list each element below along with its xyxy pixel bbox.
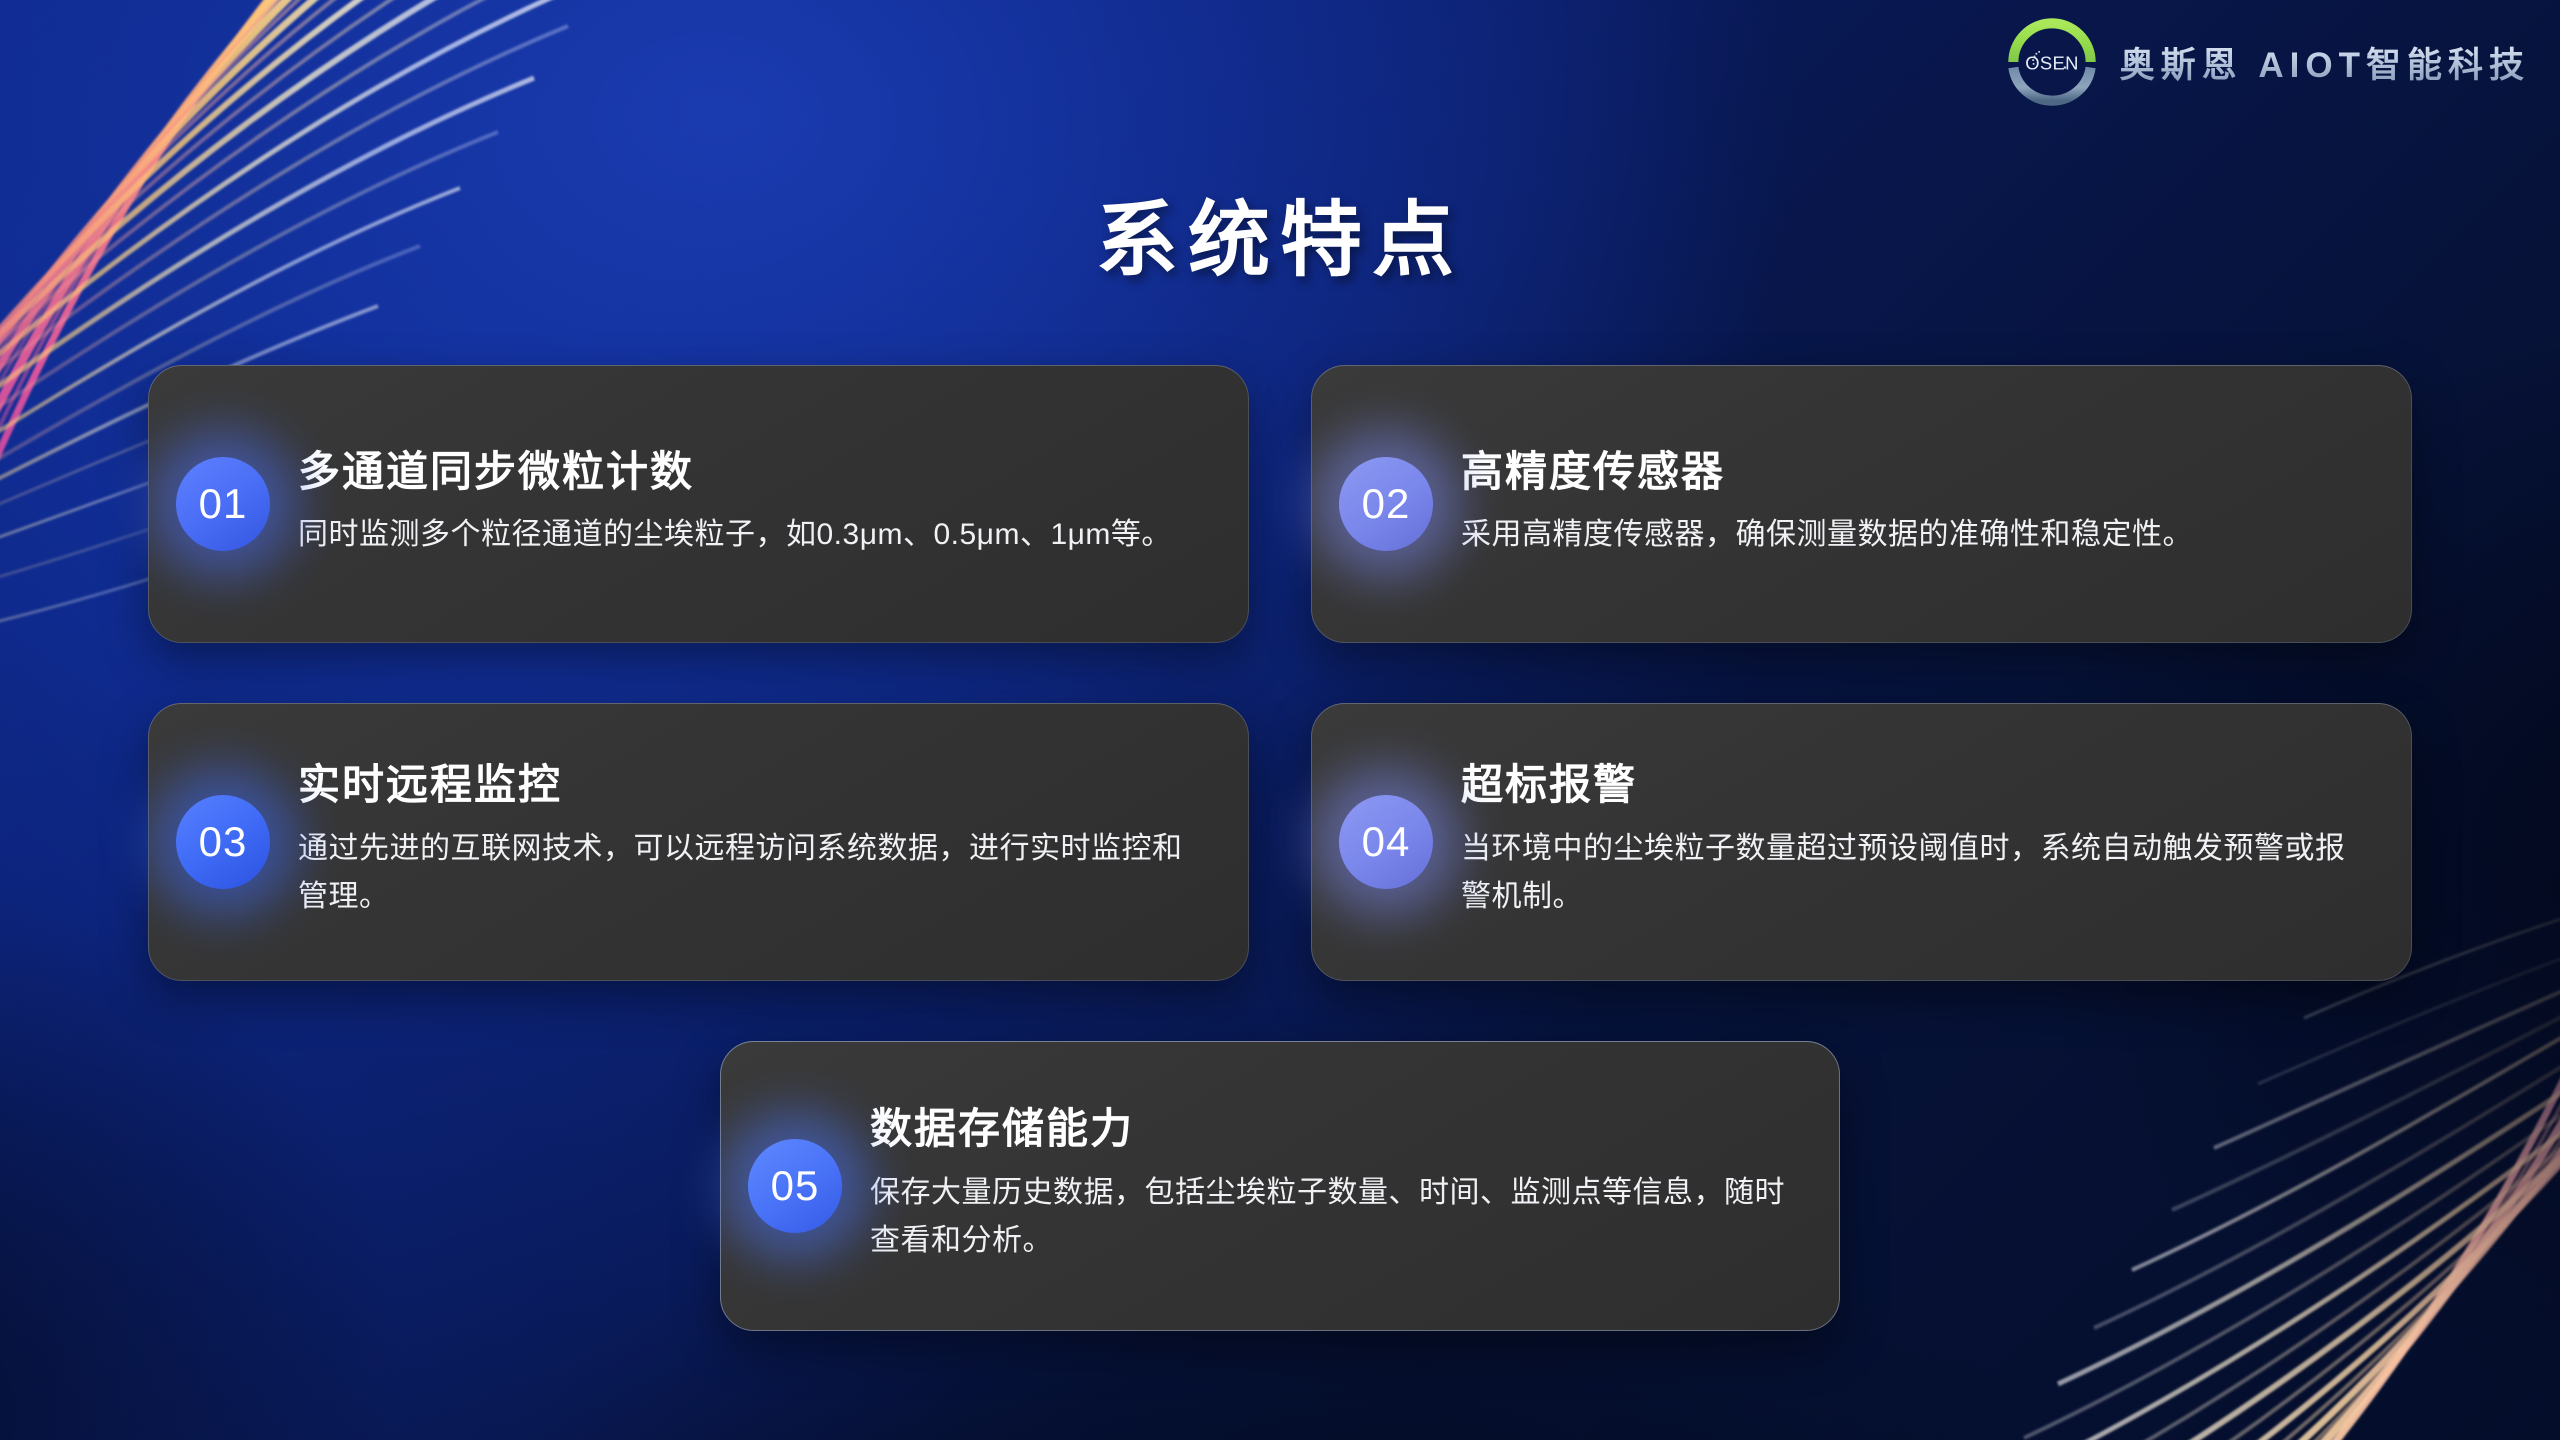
brand-header: OSEN 奥斯恩 AIOT智能科技 (2006, 16, 2530, 108)
badge-number-05: 05 (748, 1139, 842, 1233)
slide-root: OSEN 奥斯恩 AIOT智能科技 系统特点 01 多通道同步微粒计数 同时监测… (0, 0, 2560, 1440)
card-body-01: 多通道同步微粒计数 同时监测多个粒径通道的尘埃粒子，如0.3μm、0.5μm、1… (298, 449, 1205, 560)
osen-logo-icon: OSEN (2006, 16, 2098, 108)
card-desc-01: 同时监测多个粒径通道的尘埃粒子，如0.3μm、0.5μm、1μm等。 (298, 511, 1195, 560)
card-body-02: 高精度传感器 采用高精度传感器，确保测量数据的准确性和稳定性。 (1461, 449, 2368, 560)
feature-card-grid: 01 多通道同步微粒计数 同时监测多个粒径通道的尘埃粒子，如0.3μm、0.5μ… (148, 365, 2412, 1331)
badge-wrap-03: 03 (148, 795, 298, 889)
card-body-04: 超标报警 当环境中的尘埃粒子数量超过预设阈值时，系统自动触发预警或报警机制。 (1461, 762, 2368, 921)
card-row-2: 03 实时远程监控 通过先进的互联网技术，可以远程访问系统数据，进行实时监控和管… (148, 703, 2412, 981)
page-title: 系统特点 (0, 173, 2560, 292)
card-row-1: 01 多通道同步微粒计数 同时监测多个粒径通道的尘埃粒子，如0.3μm、0.5μ… (148, 365, 2412, 643)
badge-wrap-02: 02 (1311, 457, 1461, 551)
badge-number-03: 03 (176, 795, 270, 889)
card-body-05: 数据存储能力 保存大量历史数据，包括尘埃粒子数量、时间、监测点等信息，随时查看和… (870, 1106, 1796, 1265)
card-desc-04: 当环境中的尘埃粒子数量超过预设阈值时，系统自动触发预警或报警机制。 (1461, 825, 2358, 922)
osen-logo-text: OSEN (2025, 52, 2079, 73)
card-title-04: 超标报警 (1461, 762, 2358, 808)
feature-card-01[interactable]: 01 多通道同步微粒计数 同时监测多个粒径通道的尘埃粒子，如0.3μm、0.5μ… (148, 365, 1249, 643)
card-title-05: 数据存储能力 (870, 1106, 1786, 1152)
card-row-3: 05 数据存储能力 保存大量历史数据，包括尘埃粒子数量、时间、监测点等信息，随时… (148, 1041, 2412, 1331)
card-title-01: 多通道同步微粒计数 (298, 449, 1195, 495)
card-body-03: 实时远程监控 通过先进的互联网技术，可以远程访问系统数据，进行实时监控和管理。 (298, 762, 1205, 921)
card-desc-05: 保存大量历史数据，包括尘埃粒子数量、时间、监测点等信息，随时查看和分析。 (870, 1169, 1786, 1266)
badge-wrap-01: 01 (148, 457, 298, 551)
feature-card-02[interactable]: 02 高精度传感器 采用高精度传感器，确保测量数据的准确性和稳定性。 (1311, 365, 2412, 643)
card-title-03: 实时远程监控 (298, 762, 1195, 808)
badge-number-02: 02 (1339, 457, 1433, 551)
feature-card-05[interactable]: 05 数据存储能力 保存大量历史数据，包括尘埃粒子数量、时间、监测点等信息，随时… (720, 1041, 1840, 1331)
badge-wrap-04: 04 (1311, 795, 1461, 889)
feature-card-04[interactable]: 04 超标报警 当环境中的尘埃粒子数量超过预设阈值时，系统自动触发预警或报警机制… (1311, 703, 2412, 981)
badge-number-01: 01 (176, 457, 270, 551)
card-title-02: 高精度传感器 (1461, 449, 2358, 495)
badge-wrap-05: 05 (720, 1139, 870, 1233)
card-desc-02: 采用高精度传感器，确保测量数据的准确性和稳定性。 (1461, 511, 2358, 560)
feature-card-03[interactable]: 03 实时远程监控 通过先进的互联网技术，可以远程访问系统数据，进行实时监控和管… (148, 703, 1249, 981)
card-desc-03: 通过先进的互联网技术，可以远程访问系统数据，进行实时监控和管理。 (298, 825, 1195, 922)
company-name: 奥斯恩 AIOT智能科技 (2120, 37, 2530, 88)
badge-number-04: 04 (1339, 795, 1433, 889)
